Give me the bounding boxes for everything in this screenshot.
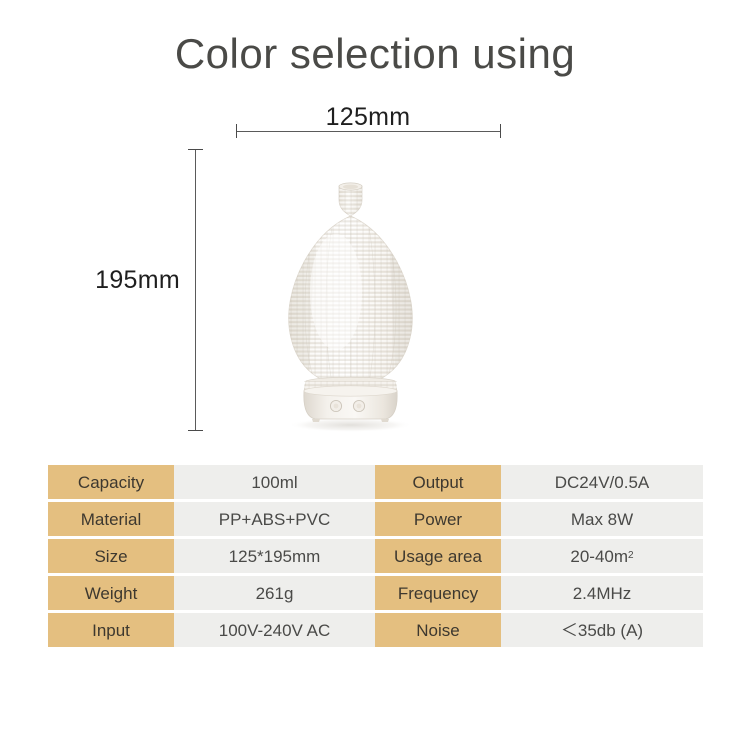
table-row: Input 100V-240V AC Noise ＜35db (A) [48, 613, 703, 647]
dimension-height-line [195, 149, 196, 430]
product-image-diffuser [258, 172, 443, 434]
spec-label-output: Output [375, 465, 501, 499]
dimension-width-cap-left [236, 124, 237, 138]
spec-label-noise: Noise [375, 613, 501, 647]
spec-value-frequency: 2.4MHz [501, 576, 703, 610]
spec-value-noise: ＜35db (A) [501, 613, 703, 647]
dimension-height-cap-top [188, 149, 203, 150]
table-row: Material PP+ABS+PVC Power Max 8W [48, 502, 703, 536]
spec-value-output: DC24V/0.5A [501, 465, 703, 499]
spec-value-input: 100V-240V AC [174, 613, 375, 647]
spec-label-frequency: Frequency [375, 576, 501, 610]
spec-value-capacity: 100ml [174, 465, 375, 499]
dimension-width-cap-right [500, 124, 501, 138]
dimension-height-cap-bottom [188, 430, 203, 431]
dimension-height-label: 195mm [60, 266, 180, 295]
spec-value-power: Max 8W [501, 502, 703, 536]
table-row: Size 125*195mm Usage area 20-40m2 [48, 539, 703, 573]
dimension-width-label: 125mm [235, 103, 501, 132]
spec-label-material: Material [48, 502, 174, 536]
specification-table: Capacity 100ml Output DC24V/0.5A Materia… [48, 465, 703, 647]
table-row: Weight 261g Frequency 2.4MHz [48, 576, 703, 610]
spec-value-weight: 261g [174, 576, 375, 610]
usage-area-text: 20-40m [570, 548, 628, 565]
spec-label-input: Input [48, 613, 174, 647]
table-row: Capacity 100ml Output DC24V/0.5A [48, 465, 703, 499]
spec-label-capacity: Capacity [48, 465, 174, 499]
spec-label-usage-area: Usage area [375, 539, 501, 573]
spec-value-size: 125*195mm [174, 539, 375, 573]
spec-label-weight: Weight [48, 576, 174, 610]
spec-value-material: PP+ABS+PVC [174, 502, 375, 536]
spec-label-power: Power [375, 502, 501, 536]
product-spec-page: Color selection using 125mm 195mm [0, 0, 750, 750]
dimension-width-line [236, 131, 500, 132]
spec-label-size: Size [48, 539, 174, 573]
page-title: Color selection using [0, 28, 750, 81]
spec-value-usage-area: 20-40m2 [501, 539, 703, 573]
